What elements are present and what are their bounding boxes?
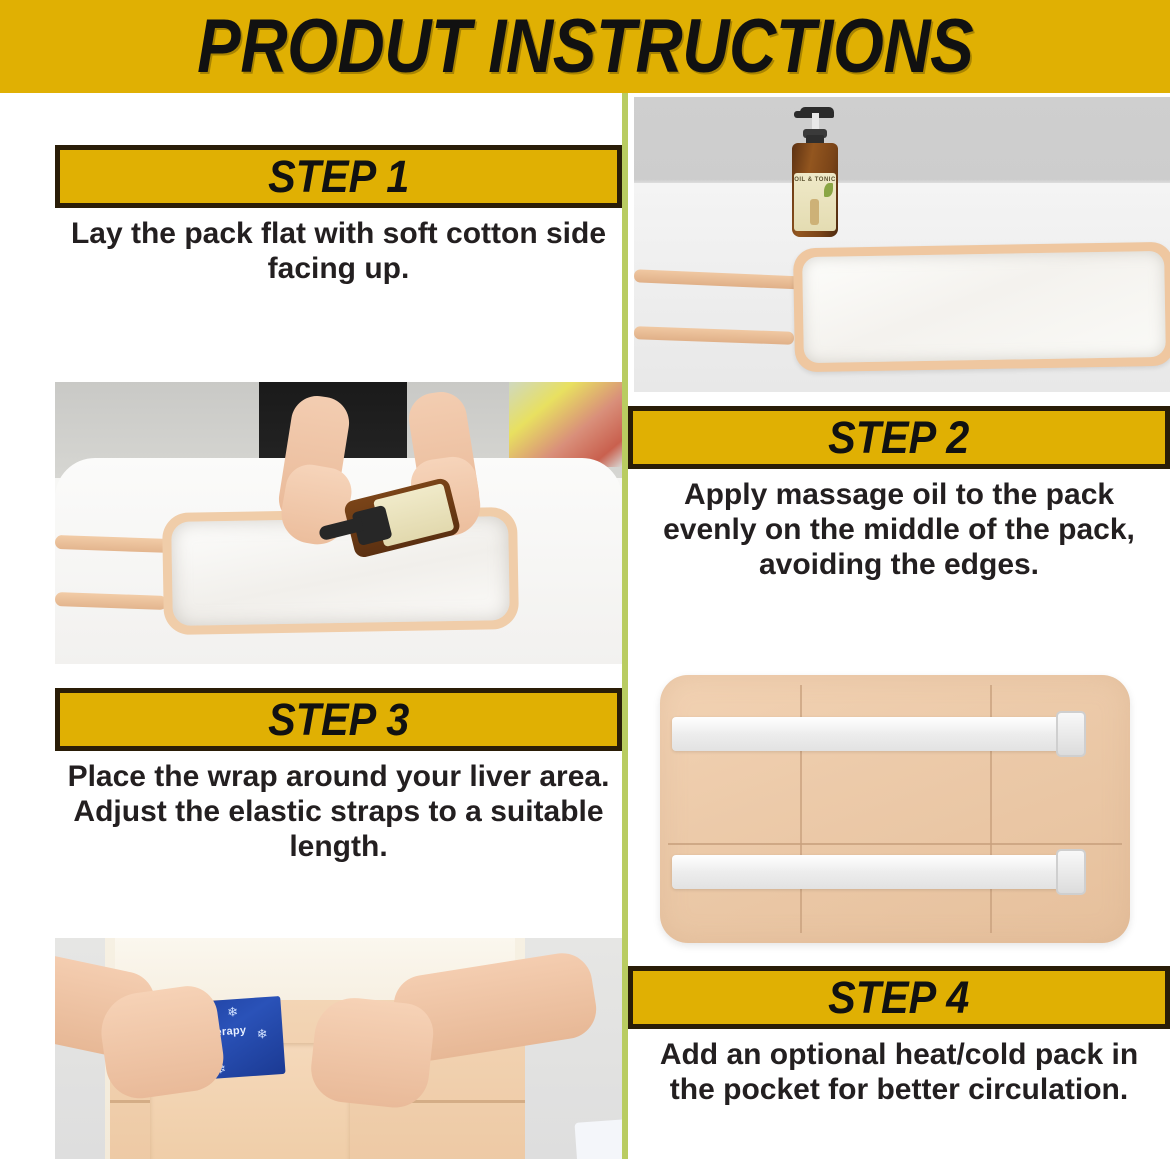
poster-header-band: PRODUT INSTRUCTIONS xyxy=(0,0,1170,93)
bottle-label-graphic xyxy=(810,199,819,225)
elastic-strap xyxy=(672,717,1060,751)
step-2-photo xyxy=(55,382,622,664)
elastic-strap xyxy=(672,855,1060,889)
step-3-description: Place the wrap around your liver area. A… xyxy=(55,760,622,864)
step-3-bar: STEP 3 xyxy=(55,688,622,751)
step-3-photo xyxy=(634,660,1170,956)
cold-pack-back xyxy=(574,1119,622,1159)
page-title: PRODUT INSTRUCTIONS xyxy=(197,9,973,85)
hand xyxy=(308,994,436,1111)
product-instructions-poster: PRODUT INSTRUCTIONS STEP 1 Lay the pack … xyxy=(0,0,1170,1159)
hand xyxy=(96,982,227,1102)
oil-bottle: OIL & TONIC xyxy=(792,105,838,237)
bottle-label: OIL & TONIC xyxy=(794,173,836,231)
step-2-block: STEP 2 Apply massage oil to the pack eve… xyxy=(628,406,1170,582)
step-1-bar: STEP 1 xyxy=(55,145,622,208)
bottle-label-text: OIL & TONIC xyxy=(794,173,836,183)
step-4-label: STEP 4 xyxy=(828,975,969,1020)
step-4-description: Add an optional heat/cold pack in the po… xyxy=(628,1038,1170,1108)
pocket-seam xyxy=(668,843,1122,845)
step-4-bar: STEP 4 xyxy=(628,966,1170,1029)
step-2-bar: STEP 2 xyxy=(628,406,1170,469)
cotton-side xyxy=(802,251,1166,363)
step-3-block: STEP 3 Place the wrap around your liver … xyxy=(55,688,622,864)
leaf-icon xyxy=(824,183,833,197)
step-2-label: STEP 2 xyxy=(828,415,969,460)
snowflake-icon: ❄ xyxy=(227,1005,239,1019)
step-1-label: STEP 1 xyxy=(268,154,409,199)
column-divider xyxy=(622,93,628,1159)
strap-buckle xyxy=(1056,849,1086,895)
step-1-block: STEP 1 Lay the pack flat with soft cotto… xyxy=(55,145,622,287)
step-1-description: Lay the pack flat with soft cotton side … xyxy=(55,217,622,287)
plants-decor xyxy=(509,382,622,467)
step-2-description: Apply massage oil to the pack evenly on … xyxy=(628,478,1170,582)
pump-nozzle-icon xyxy=(794,111,806,118)
step-3-label: STEP 3 xyxy=(268,697,409,742)
bottle-body: OIL & TONIC xyxy=(792,143,838,237)
step-1-photo: OIL & TONIC xyxy=(634,97,1170,392)
step-4-photo: ❄ ❄ ❄ ❄ Cold Therapy xyxy=(55,938,622,1159)
strap-buckle xyxy=(1056,711,1086,757)
liver-pack xyxy=(793,242,1170,373)
step-4-block: STEP 4 Add an optional heat/cold pack in… xyxy=(628,966,1170,1108)
liver-wrap xyxy=(660,675,1130,943)
